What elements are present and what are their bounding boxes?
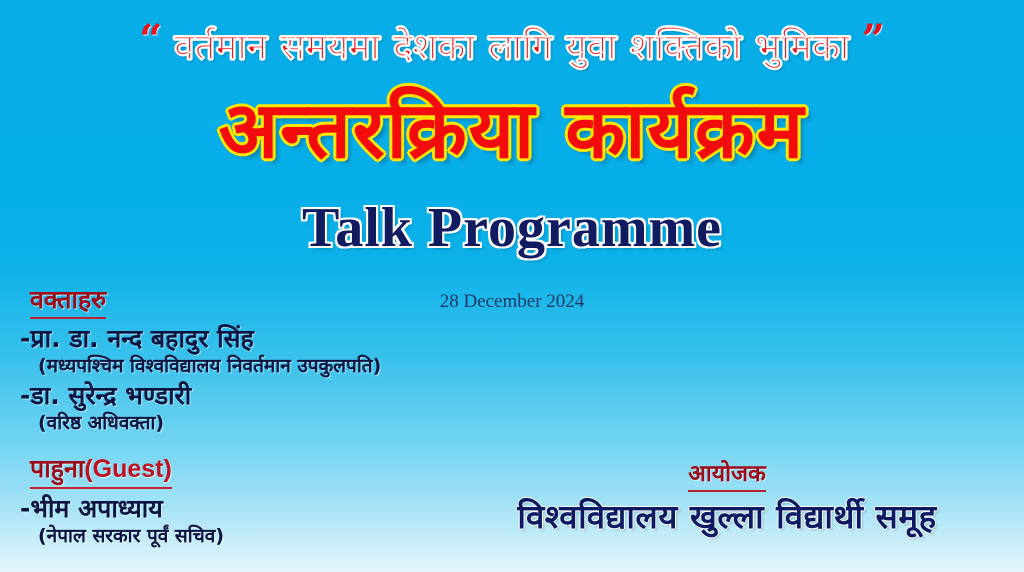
- guest-heading-english: (Guest): [84, 455, 172, 483]
- close-quote-icon: ”: [862, 16, 885, 63]
- speaker-title: (वरिष्ठ अधिवक्ता): [38, 411, 560, 436]
- speaker-entry: -डा. सुरेन्द्र भण्डारी (वरिष्ठ अधिवक्ता): [20, 381, 560, 436]
- guest-heading: पाहुना(Guest): [30, 455, 172, 489]
- guest-name: -भीम अपाध्याय: [20, 494, 490, 525]
- tagline-text: वर्तमान समयमा देशका लागि युवा शक्तिको भु…: [174, 29, 850, 67]
- main-title-devanagari: अन्तरक्रिया कार्यक्रम: [0, 92, 1024, 170]
- speakers-section: वक्ताहरु -प्रा. डा. नन्द बहादुर सिंह (मध…: [20, 286, 560, 438]
- speaker-name: -प्रा. डा. नन्द बहादुर सिंह: [20, 324, 560, 355]
- organizer-section: आयोजक विश्वविद्यालय खुल्ला विद्यार्थी सम…: [430, 462, 1024, 536]
- guest-section: पाहुना(Guest) -भीम अपाध्याय (नेपाल सरकार…: [20, 455, 490, 551]
- organizer-heading: आयोजक: [688, 462, 766, 492]
- guest-heading-nepali: पाहुना: [30, 454, 84, 483]
- open-quote-icon: “: [139, 16, 162, 63]
- speaker-entry: -प्रा. डा. नन्द बहादुर सिंह (मध्यपश्चिम …: [20, 324, 560, 379]
- poster-canvas: “वर्तमान समयमा देशका लागि युवा शक्तिको भ…: [0, 0, 1024, 572]
- organizer-name: विश्वविद्यालय खुल्ला विद्यार्थी समूह: [430, 498, 1024, 536]
- guest-entry: -भीम अपाध्याय (नेपाल सरकार पूर्वं सचिव): [20, 494, 490, 549]
- speaker-name: -डा. सुरेन्द्र भण्डारी: [20, 381, 560, 412]
- tagline: “वर्तमान समयमा देशका लागि युवा शक्तिको भ…: [0, 16, 1024, 67]
- speaker-title: (मध्यपश्चिम विश्वविद्यालय निवर्तमान उपकु…: [38, 354, 560, 379]
- main-title-english: Talk Programme: [0, 200, 1024, 256]
- guest-title: (नेपाल सरकार पूर्वं सचिव): [38, 524, 490, 549]
- speakers-heading: वक्ताहरु: [30, 286, 106, 319]
